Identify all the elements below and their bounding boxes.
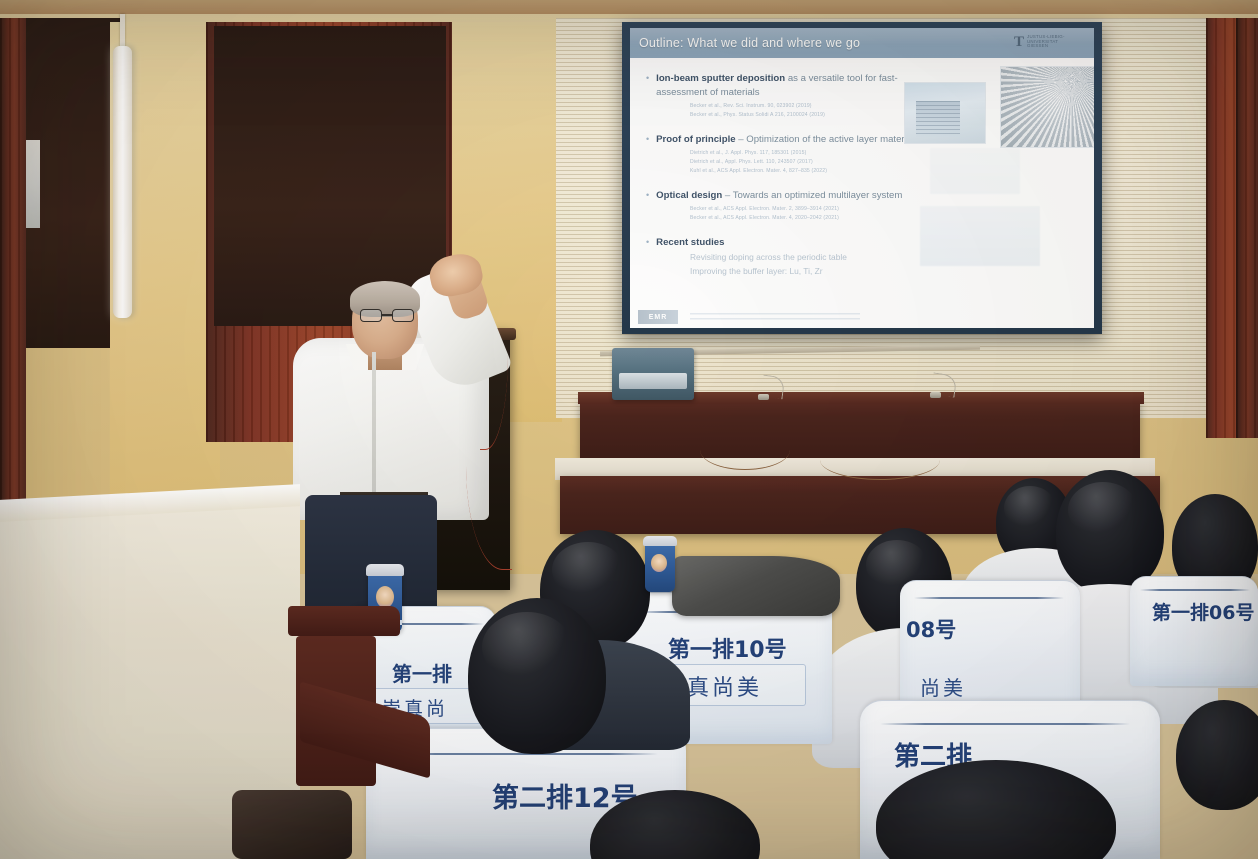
bullet-dot-icon: • <box>646 236 649 250</box>
citation-line: Dietrich et al., J. Appl. Phys. 117, 185… <box>690 149 1084 158</box>
bullet-dot-icon: • <box>646 72 649 100</box>
slide-title-bar: Outline: What we did and where we go T J… <box>630 28 1094 58</box>
coffee-cup-right-lid <box>643 536 677 546</box>
bullet-text: Ion-beam sputter deposition as a versati… <box>656 72 918 100</box>
emr-footer-logo: EMR <box>638 310 678 324</box>
bullet-text: Proof of principle – Optimization of the… <box>656 133 914 147</box>
slide-faint-figure-1 <box>920 206 1040 266</box>
seat-motto-label: 尚美 <box>920 672 966 701</box>
bullet-lead: Optical design <box>656 190 722 201</box>
citation-line: Dietrich et al., Appl. Phys. Lett. 110, … <box>690 158 1084 167</box>
university-logo: T JUSTUS-LIEBIG- UNIVERSITAT GIESSEN <box>1014 31 1088 53</box>
acoustic-panel-right <box>1100 18 1212 418</box>
folded-jacket-on-seat <box>672 556 840 616</box>
bullet-text: Recent studies <box>656 236 724 250</box>
slide-photo-deposition-chamber <box>904 82 986 144</box>
av-projector-box <box>612 348 694 400</box>
wood-column-far-left <box>0 18 26 578</box>
seat-number-label: 08号 <box>906 614 956 644</box>
eyeglass-lens-right <box>392 309 414 322</box>
hanging-tube-light <box>113 46 132 318</box>
wood-column-far-right-edge <box>1236 18 1258 438</box>
university-logo-wordmark: JUSTUS-LIEBIG- UNIVERSITAT GIESSEN <box>1027 35 1065 48</box>
hair-highlight <box>1004 486 1056 530</box>
presentation-slide: Outline: What we did and where we go T J… <box>630 28 1094 328</box>
microphone-base-1 <box>758 394 769 400</box>
chair-armrest-left <box>288 606 400 636</box>
slide-faint-figure-2 <box>930 148 1020 194</box>
seat-number-label: 第一排 <box>392 658 452 687</box>
seat-seam <box>1140 589 1250 591</box>
eyeglass-bridge <box>382 314 392 316</box>
desk-cable-2 <box>820 440 940 480</box>
coffee-cup-left-lid <box>366 564 404 576</box>
center-left-doorway <box>214 26 446 326</box>
hair-highlight <box>482 612 572 682</box>
presenter-eyeglasses <box>360 309 416 323</box>
university-logo-mark: T <box>1014 35 1024 50</box>
coffee-cup-right-graphic <box>651 554 667 572</box>
seat-number-label: 第一排10号 <box>668 632 787 664</box>
presenter-shirt-placket <box>372 352 376 502</box>
bullet-subline: Improving the buffer layer: Lu, Ti, Zr <box>690 265 1084 279</box>
projection-screen-frame: Outline: What we did and where we go T J… <box>622 22 1102 334</box>
light-fixture-cord <box>120 14 125 48</box>
slide-title: Outline: What we did and where we go <box>630 36 860 50</box>
eyeglass-lens-left <box>360 309 382 322</box>
bullet-text: Optical design – Towards an optimized mu… <box>656 189 902 203</box>
slide-photo-ion-beam <box>1000 66 1094 148</box>
seat-number-label: 第一排06号 <box>1152 598 1254 625</box>
seat-seam <box>880 723 1130 725</box>
hair-highlight <box>552 542 624 598</box>
backpack-on-floor <box>232 790 352 859</box>
citation-group: Dietrich et al., J. Appl. Phys. 117, 185… <box>690 149 1084 177</box>
citation-line: Kuhl et al., ACS Appl. Electron. Mater. … <box>690 167 1084 176</box>
seat-front-row-06[interactable] <box>1130 576 1258 686</box>
av-box-slot <box>619 373 688 389</box>
hair-highlight <box>1068 482 1138 538</box>
desk-cable-1 <box>700 430 790 470</box>
logo-line-3: GIESSEN <box>1027 44 1065 48</box>
bullet-dot-icon: • <box>646 189 649 203</box>
bullet-rest: – Towards an optimized multilayer system <box>722 190 902 201</box>
bullet-rest: – Optimization of the active layer mater… <box>736 134 915 145</box>
lecture-hall-photo: Outline: What we did and where we go T J… <box>0 0 1258 859</box>
audience-head-foreground-far-right <box>1176 700 1258 810</box>
coffee-cup-left-graphic <box>376 586 394 608</box>
microphone-base-2 <box>930 392 941 398</box>
bullet-lead: Ion-beam sputter deposition <box>656 73 785 84</box>
bullet-lead: Proof of principle <box>656 134 735 145</box>
bullet-lead: Recent studies <box>656 237 724 248</box>
seat-seam <box>914 597 1064 599</box>
slide-footer-note <box>690 313 860 323</box>
bullet-dot-icon: • <box>646 133 649 147</box>
